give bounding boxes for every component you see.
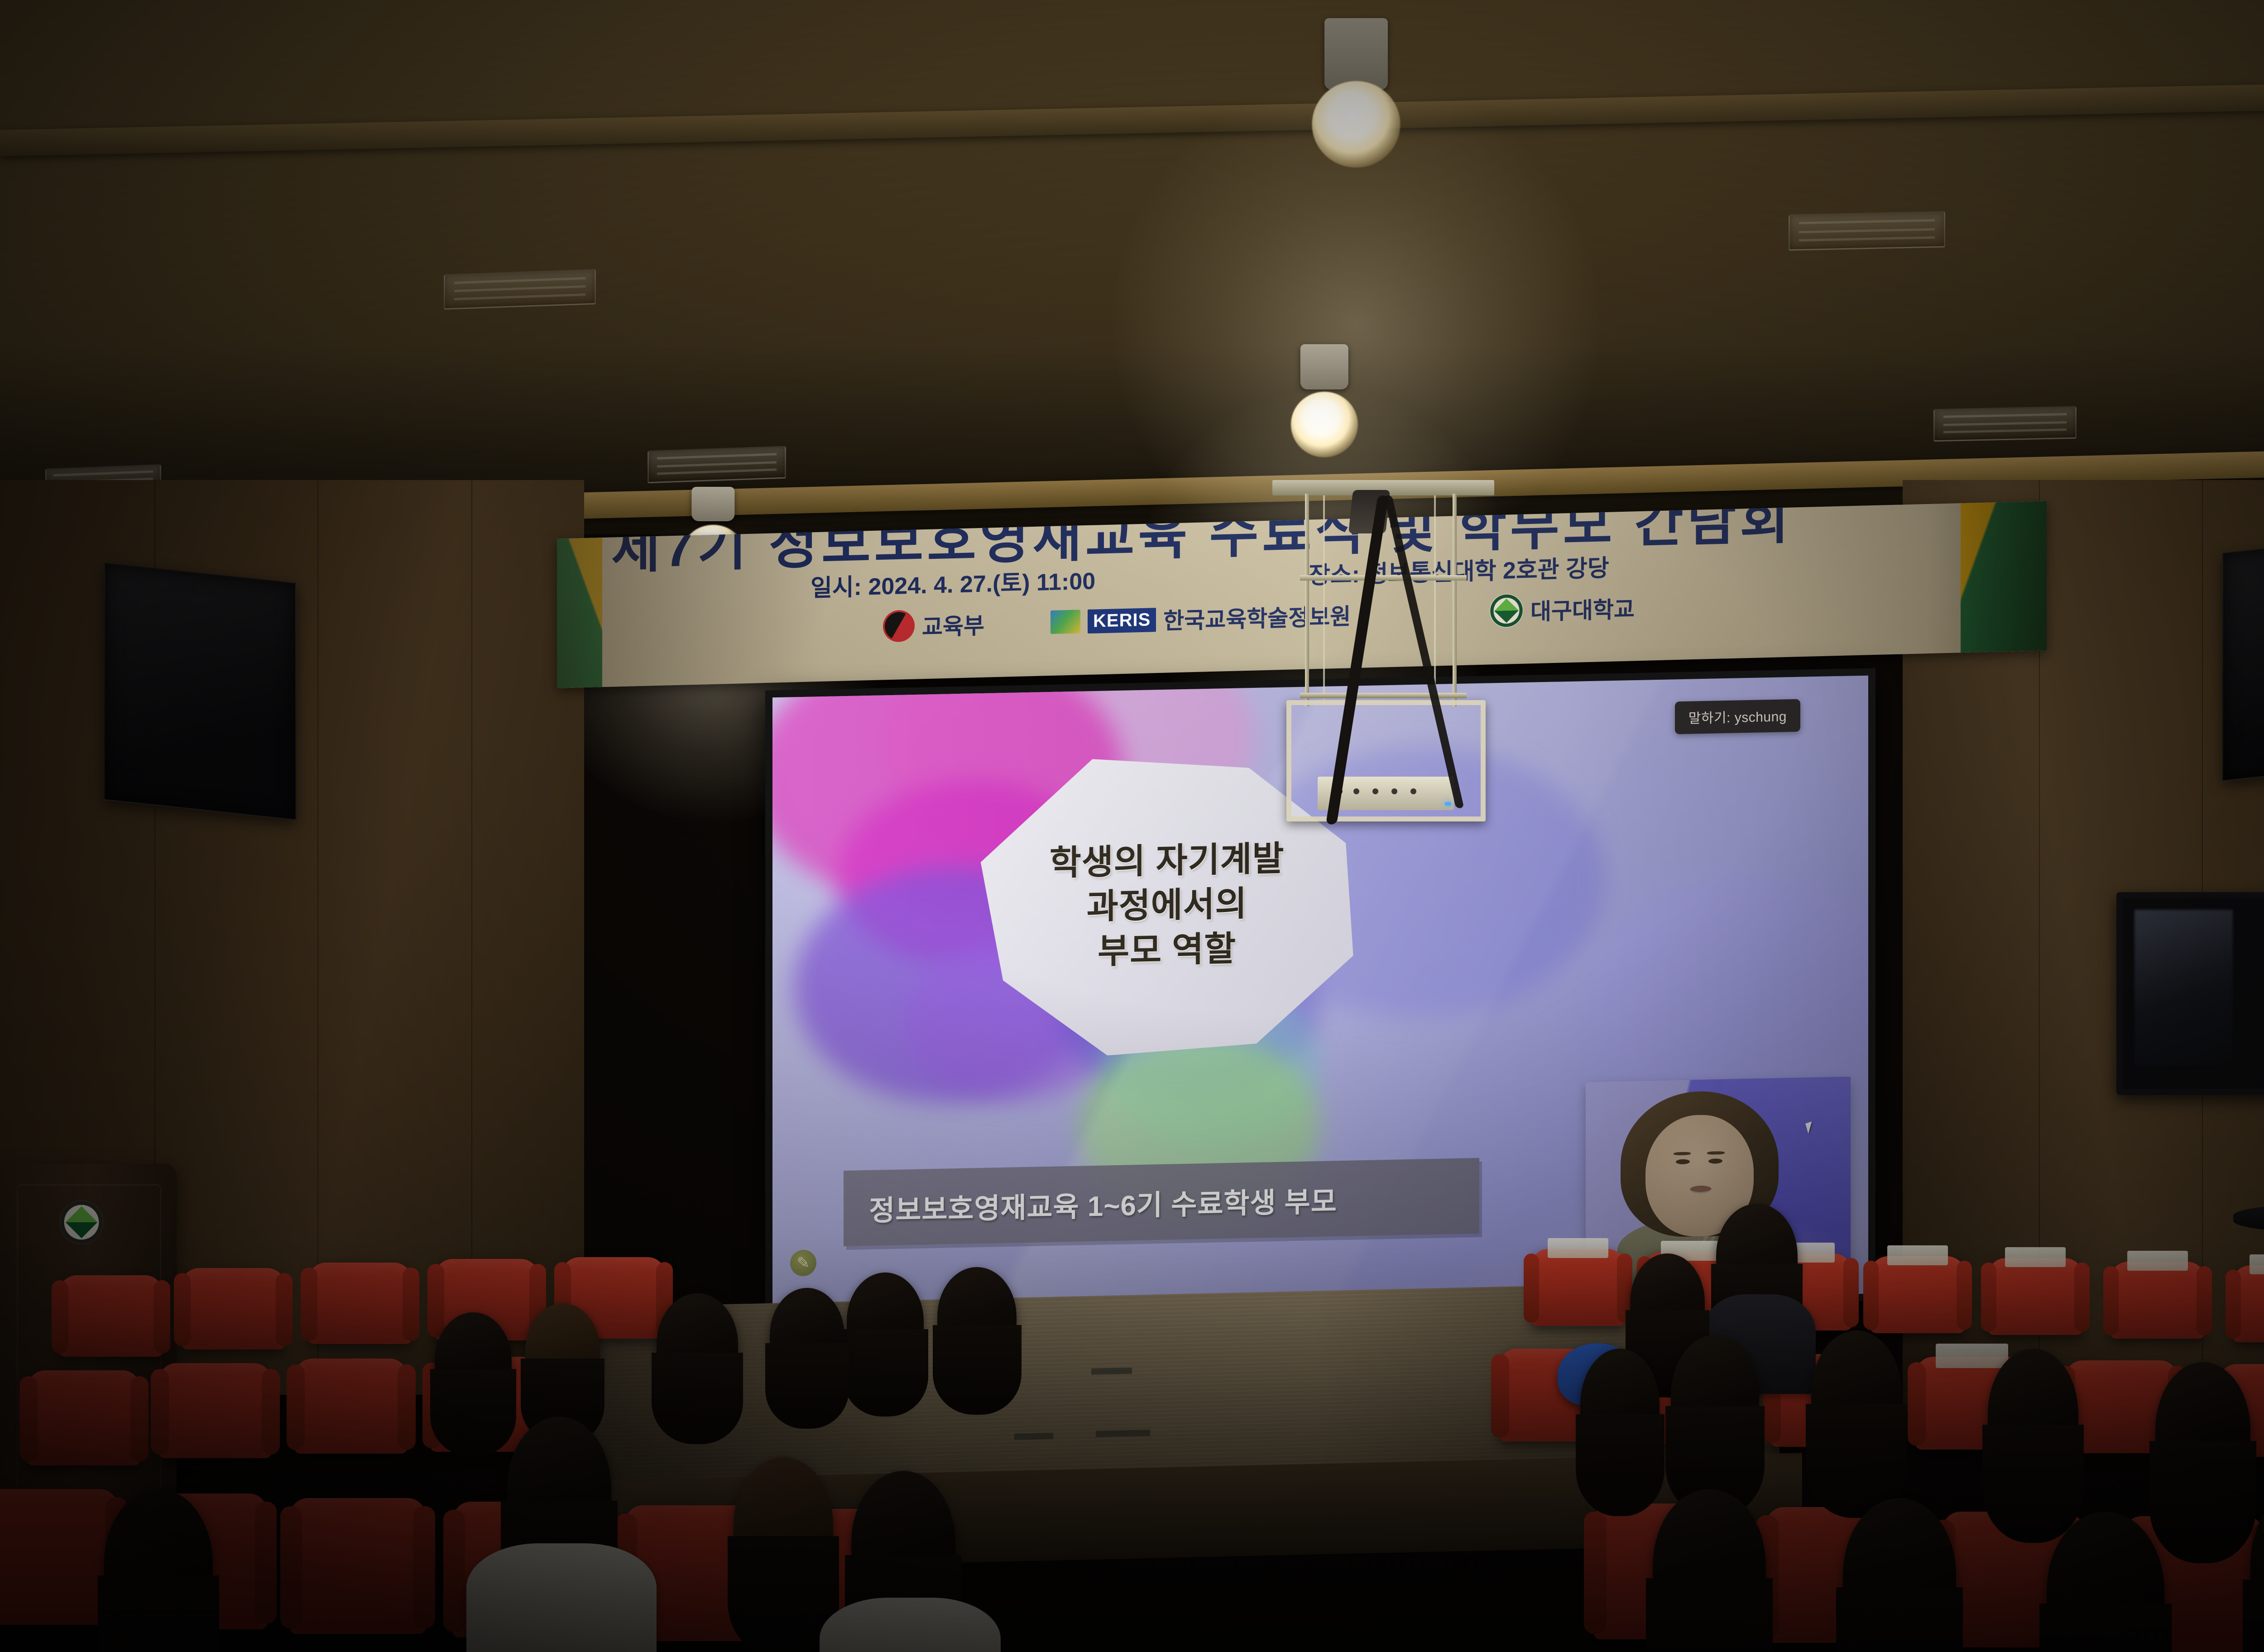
audience-member: [1716, 1204, 1798, 1308]
seat[interactable]: [181, 1268, 285, 1349]
seat[interactable]: [294, 1359, 408, 1454]
left-wall-speaker: [104, 563, 296, 821]
keris-icon: [1050, 610, 1080, 634]
audience-member: [657, 1293, 738, 1395]
keris-wordmark: KERIS: [1088, 608, 1156, 634]
seat[interactable]: [2110, 1262, 2205, 1339]
audience-member: [1843, 1498, 1956, 1652]
safety-wire: [1323, 495, 1325, 704]
audience-member: [734, 1457, 833, 1593]
right-wall-speaker: [2222, 534, 2264, 781]
seat[interactable]: [27, 1370, 140, 1465]
slide-title-line-3: 부모 역할: [1050, 926, 1285, 975]
projector-support-rod: [1453, 494, 1457, 706]
audience-member: [847, 1273, 924, 1370]
logo-daegu-university: 대구대학교: [1490, 591, 1635, 628]
seat[interactable]: [1988, 1258, 2083, 1335]
audience-seating: [0, 1199, 2264, 1652]
active-speaker-chip: 말하기: yschung: [1675, 699, 1800, 735]
audience-member: [1811, 1330, 1902, 1457]
audience-member: [1580, 1349, 1660, 1462]
audience-member: [435, 1312, 512, 1410]
seat[interactable]: [59, 1275, 163, 1357]
audience-member-torso: [466, 1543, 657, 1652]
seat[interactable]: [308, 1263, 412, 1344]
audience-member-torso: [820, 1598, 1001, 1652]
projector-cross-bar: [1300, 575, 1466, 581]
projector-cross-bar: [1300, 693, 1466, 698]
seat[interactable]: [1530, 1249, 1626, 1326]
seat[interactable]: [158, 1363, 272, 1458]
ceiling-mounted-projector: [1268, 480, 1499, 824]
ceiling-downlight: [1281, 344, 1367, 457]
audience-member: [770, 1288, 844, 1383]
logo-label-moe: 교육부: [922, 608, 984, 642]
projector-support-rod: [1305, 494, 1309, 706]
wall-side-tv-monitor[interactable]: [2116, 892, 2264, 1095]
ceiling: [0, 0, 2264, 534]
audience-member: [507, 1417, 611, 1561]
logo-ministry-of-education: 교육부: [883, 608, 984, 643]
safety-wire: [1434, 495, 1436, 704]
air-vent: [648, 446, 786, 484]
audience-member: [1653, 1489, 1766, 1643]
ceiling-downlight: [1300, 18, 1413, 168]
audience-member: [937, 1267, 1017, 1367]
monitor-reflection: [2134, 910, 2233, 1066]
air-vent: [444, 269, 596, 310]
audience-member: [525, 1303, 600, 1398]
seat[interactable]: [1870, 1256, 1965, 1333]
slide-title-lines: 학생의 자기계발 과정에서의 부모 역할: [1050, 836, 1285, 975]
air-vent: [1789, 211, 1945, 250]
audience-member: [1630, 1253, 1705, 1351]
audience-member: [1671, 1335, 1759, 1457]
projector-power-led: [1445, 802, 1451, 806]
audience-member: [851, 1471, 955, 1616]
auditorium-scene: 제7기 정보보호영재교육 수료식 및 학부모 간담회 일시: 2024. 4. …: [0, 0, 2264, 1652]
banner-date: 일시: 2024. 4. 27.(토) 11:00: [811, 562, 1095, 603]
audience-member: [2155, 1362, 2250, 1498]
audience-member: [104, 1489, 213, 1638]
slide-title-line-2: 과정에서의: [1050, 881, 1285, 931]
seat[interactable]: [290, 1498, 426, 1634]
seat[interactable]: [2232, 1265, 2264, 1342]
air-vent: [1933, 406, 2077, 442]
audience-member: [1988, 1349, 2078, 1480]
taeguk-icon: [883, 610, 915, 643]
logo-label-dgu: 대구대학교: [1530, 591, 1635, 626]
slide-title-line-1: 학생의 자기계발: [1050, 836, 1285, 886]
